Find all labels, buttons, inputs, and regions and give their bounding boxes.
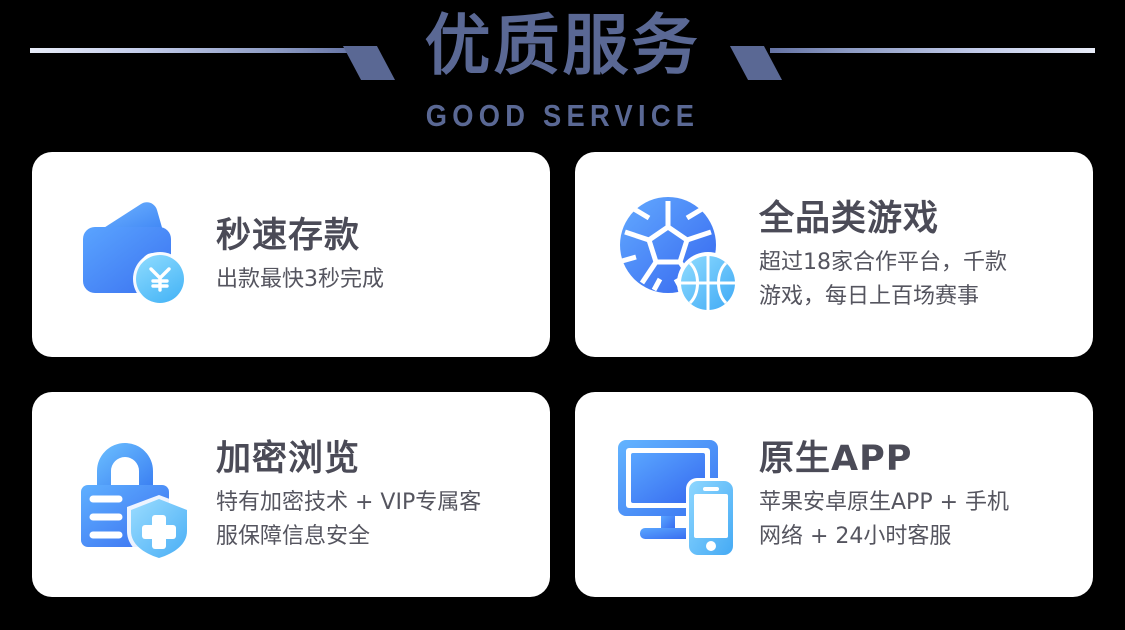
card-subtitle-line: 服保障信息安全 <box>216 520 481 554</box>
card-text-block: 全品类游戏 超过18家合作平台，千款 游戏，每日上百场赛事 <box>753 196 1007 314</box>
card-subtitle-line: 苹果安卓原生APP + 手机 <box>759 486 1009 520</box>
card-title: 全品类游戏 <box>759 196 1007 242</box>
card-subtitle: 出款最快3秒完成 <box>216 263 384 297</box>
promo-banner: 优质服务 GOOD SERVICE <box>0 0 1125 630</box>
card-text-block: 原生APP 苹果安卓原生APP + 手机 网络 + 24小时客服 <box>753 436 1009 554</box>
card-title: 秒速存款 <box>216 213 384 259</box>
card-text-block: 加密浏览 特有加密技术 + VIP专属客 服保障信息安全 <box>210 436 481 554</box>
lock-shield-icon <box>60 425 210 565</box>
feature-card-games[interactable]: 全品类游戏 超过18家合作平台，千款 游戏，每日上百场赛事 <box>575 152 1093 357</box>
card-title: 原生APP <box>759 436 1009 482</box>
card-title: 加密浏览 <box>216 436 481 482</box>
card-text-block: 秒速存款 出款最快3秒完成 <box>210 213 384 297</box>
soccer-basketball-icon <box>603 185 753 325</box>
feature-card-encryption[interactable]: 加密浏览 特有加密技术 + VIP专属客 服保障信息安全 <box>32 392 550 597</box>
page-title: 优质服务 <box>0 4 1125 88</box>
banner-header: 优质服务 GOOD SERVICE <box>0 0 1125 148</box>
feature-card-grid: 秒速存款 出款最快3秒完成 <box>32 152 1093 597</box>
card-subtitle: 苹果安卓原生APP + 手机 网络 + 24小时客服 <box>759 486 1009 554</box>
feature-card-deposit[interactable]: 秒速存款 出款最快3秒完成 <box>32 152 550 357</box>
monitor-phone-icon <box>603 425 753 565</box>
card-subtitle-line: 特有加密技术 + VIP专属客 <box>216 486 481 520</box>
card-subtitle-line: 游戏，每日上百场赛事 <box>759 280 1007 314</box>
card-subtitle-line: 超过18家合作平台，千款 <box>759 246 1007 280</box>
wallet-yen-icon <box>60 185 210 325</box>
feature-card-native-app[interactable]: 原生APP 苹果安卓原生APP + 手机 网络 + 24小时客服 <box>575 392 1093 597</box>
card-subtitle-line: 出款最快3秒完成 <box>216 263 384 297</box>
card-subtitle: 特有加密技术 + VIP专属客 服保障信息安全 <box>216 486 481 554</box>
card-subtitle-line: 网络 + 24小时客服 <box>759 520 1009 554</box>
page-subtitle: GOOD SERVICE <box>68 98 1058 134</box>
card-subtitle: 超过18家合作平台，千款 游戏，每日上百场赛事 <box>759 246 1007 314</box>
